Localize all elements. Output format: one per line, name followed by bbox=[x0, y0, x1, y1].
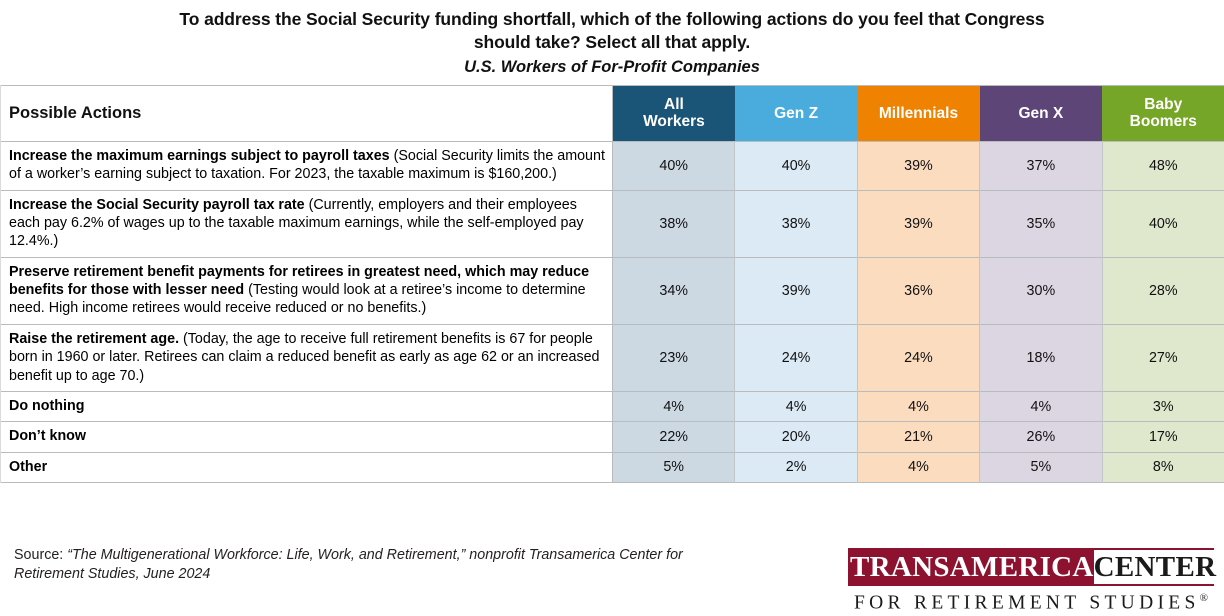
value-cell-millennials: 36% bbox=[857, 257, 979, 324]
value-cell-gen_x: 5% bbox=[980, 452, 1102, 482]
value-cell-gen_z: 39% bbox=[735, 257, 857, 324]
action-label: Do nothing bbox=[9, 398, 84, 414]
value-cell-baby_boomers: 48% bbox=[1102, 141, 1224, 190]
table-body: Increase the maximum earnings subject to… bbox=[1, 141, 1224, 482]
action-label: Other bbox=[9, 459, 47, 475]
column-header-baby-boomers-line-1: Baby bbox=[1144, 96, 1182, 113]
source-citation: “The Multigenerational Workforce: Life, … bbox=[14, 547, 683, 582]
action-label: Don’t know bbox=[9, 428, 86, 444]
value-cell-millennials: 4% bbox=[857, 452, 979, 482]
source-note: Source: “The Multigenerational Workforce… bbox=[14, 546, 714, 584]
action-label: Increase the Social Security payroll tax… bbox=[9, 197, 305, 213]
value-cell-all_workers: 23% bbox=[613, 324, 735, 391]
value-cell-baby_boomers: 3% bbox=[1102, 391, 1224, 421]
value-cell-all_workers: 34% bbox=[613, 257, 735, 324]
column-header-baby-boomers: Baby Boomers bbox=[1102, 85, 1224, 141]
action-cell: Increase the Social Security payroll tax… bbox=[1, 190, 613, 257]
value-cell-baby_boomers: 27% bbox=[1102, 324, 1224, 391]
logo-word-center: CENTER bbox=[1094, 550, 1217, 584]
table-row: Other5%2%4%5%8% bbox=[1, 452, 1224, 482]
table-row: Don’t know22%20%21%26%17% bbox=[1, 422, 1224, 452]
table-row: Increase the Social Security payroll tax… bbox=[1, 190, 1224, 257]
value-cell-millennials: 39% bbox=[857, 141, 979, 190]
action-cell: Increase the maximum earnings subject to… bbox=[1, 141, 613, 190]
value-cell-millennials: 4% bbox=[857, 391, 979, 421]
column-header-millennials: Millennials bbox=[857, 85, 979, 141]
action-cell: Raise the retirement age. (Today, the ag… bbox=[1, 324, 613, 391]
transamerica-logo: TRANSAMERICA CENTER FOR RETIREMENT STUDI… bbox=[848, 548, 1214, 615]
value-cell-gen_z: 4% bbox=[735, 391, 857, 421]
value-cell-all_workers: 38% bbox=[613, 190, 735, 257]
column-header-all-workers: All Workers bbox=[613, 85, 735, 141]
value-cell-gen_x: 30% bbox=[980, 257, 1102, 324]
value-cell-gen_x: 35% bbox=[980, 190, 1102, 257]
results-table-wrap: Possible Actions All Workers Gen Z Mille… bbox=[0, 85, 1224, 483]
column-header-gen-x: Gen X bbox=[980, 85, 1102, 141]
value-cell-all_workers: 4% bbox=[613, 391, 735, 421]
table-row: Raise the retirement age. (Today, the ag… bbox=[1, 324, 1224, 391]
logo-wordmark: TRANSAMERICA CENTER bbox=[848, 548, 1214, 586]
logo-trademark-icon: ® bbox=[1200, 592, 1208, 604]
value-cell-baby_boomers: 8% bbox=[1102, 452, 1224, 482]
page-subtitle: U.S. Workers of For-Profit Companies bbox=[70, 57, 1154, 78]
column-header-baby-boomers-line-2: Boomers bbox=[1130, 113, 1197, 130]
action-cell: Do nothing bbox=[1, 391, 613, 421]
logo-word-transamerica: TRANSAMERICA bbox=[850, 550, 1094, 584]
table-row: Do nothing4%4%4%4%3% bbox=[1, 391, 1224, 421]
value-cell-all_workers: 22% bbox=[613, 422, 735, 452]
chart-title-block: To address the Social Security funding s… bbox=[0, 0, 1224, 78]
action-cell: Other bbox=[1, 452, 613, 482]
value-cell-baby_boomers: 17% bbox=[1102, 422, 1224, 452]
value-cell-baby_boomers: 40% bbox=[1102, 190, 1224, 257]
value-cell-baby_boomers: 28% bbox=[1102, 257, 1224, 324]
column-header-possible-actions: Possible Actions bbox=[1, 85, 613, 141]
table-row: Preserve retirement benefit payments for… bbox=[1, 257, 1224, 324]
page-title-line-1: To address the Social Security funding s… bbox=[70, 8, 1154, 31]
column-header-all-workers-line-2: Workers bbox=[643, 113, 705, 130]
action-label: Increase the maximum earnings subject to… bbox=[9, 148, 390, 164]
footer: Source: “The Multigenerational Workforce… bbox=[0, 534, 1224, 616]
action-cell: Preserve retirement benefit payments for… bbox=[1, 257, 613, 324]
table-header-row: Possible Actions All Workers Gen Z Mille… bbox=[1, 85, 1224, 141]
column-header-gen-z: Gen Z bbox=[735, 85, 857, 141]
value-cell-gen_x: 4% bbox=[980, 391, 1102, 421]
logo-tagline: FOR RETIREMENT STUDIES® bbox=[848, 592, 1214, 615]
value-cell-all_workers: 40% bbox=[613, 141, 735, 190]
table-header: Possible Actions All Workers Gen Z Mille… bbox=[1, 85, 1224, 141]
value-cell-gen_z: 38% bbox=[735, 190, 857, 257]
value-cell-millennials: 24% bbox=[857, 324, 979, 391]
value-cell-gen_z: 2% bbox=[735, 452, 857, 482]
source-label: Source: bbox=[14, 547, 67, 563]
value-cell-all_workers: 5% bbox=[613, 452, 735, 482]
value-cell-gen_x: 37% bbox=[980, 141, 1102, 190]
value-cell-gen_z: 24% bbox=[735, 324, 857, 391]
results-table: Possible Actions All Workers Gen Z Mille… bbox=[0, 85, 1224, 483]
value-cell-millennials: 21% bbox=[857, 422, 979, 452]
table-row: Increase the maximum earnings subject to… bbox=[1, 141, 1224, 190]
value-cell-gen_z: 20% bbox=[735, 422, 857, 452]
action-label: Raise the retirement age. bbox=[9, 331, 179, 347]
action-cell: Don’t know bbox=[1, 422, 613, 452]
page-title-line-2: should take? Select all that apply. bbox=[70, 31, 1154, 54]
column-header-all-workers-line-1: All bbox=[664, 96, 684, 113]
value-cell-gen_x: 26% bbox=[980, 422, 1102, 452]
value-cell-gen_x: 18% bbox=[980, 324, 1102, 391]
logo-tagline-text: FOR RETIREMENT STUDIES bbox=[854, 593, 1200, 614]
value-cell-gen_z: 40% bbox=[735, 141, 857, 190]
value-cell-millennials: 39% bbox=[857, 190, 979, 257]
